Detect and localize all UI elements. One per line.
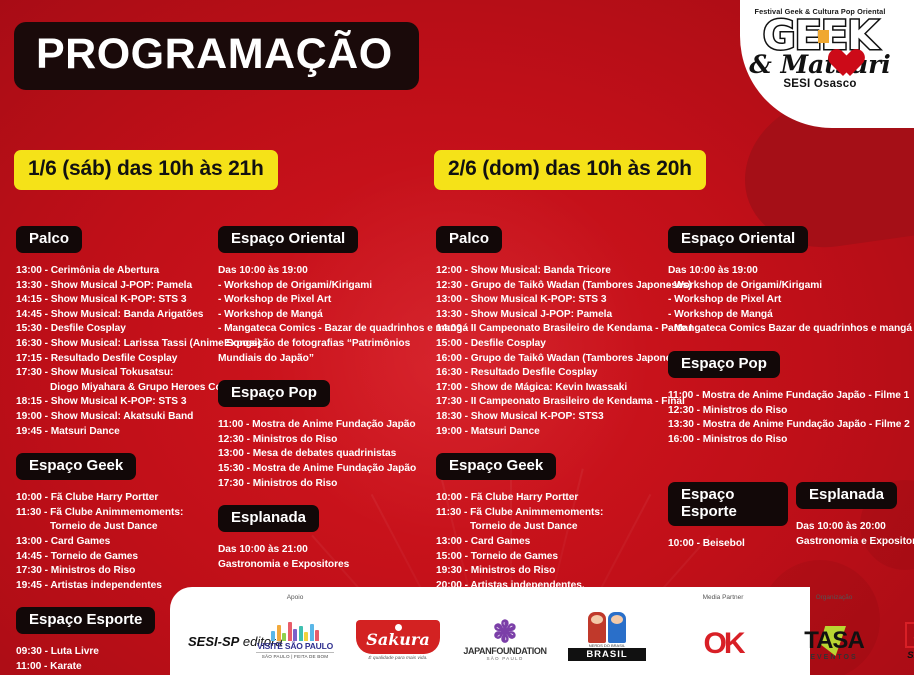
sponsor-ok: OK xyxy=(678,629,768,659)
sponsor-caption-apoio: Apoio xyxy=(256,594,334,603)
schedule-item: - Workshop de Origami/Kirigami xyxy=(668,279,908,294)
schedule-item: 10:00 - Fã Clube Harry Portter xyxy=(436,491,666,506)
schedule-item: Das 10:00 às 20:00 xyxy=(796,520,914,535)
schedule-item: 13:30 - Show Musical J-POP: Pamela xyxy=(16,279,216,294)
schedule-item: 13:00 - Show Musical K-POP: STS 3 xyxy=(436,293,666,308)
schedule-item: - Mangateca Comics Bazar de quadrinhos e… xyxy=(668,322,908,337)
schedule-block-label: Espaço Esporte xyxy=(16,607,155,634)
festival-logo: Festival Geek & Cultura Pop Oriental GEE… xyxy=(732,4,908,120)
schedule-block-label: Esplanada xyxy=(218,505,319,532)
schedule-item: - Workshop de Mangá xyxy=(218,308,428,323)
schedule-item: 14:15 - Show Musical K-POP: STS 3 xyxy=(16,293,216,308)
schedule-block-label: Espaço Pop xyxy=(218,380,330,407)
schedule-item: 17:00 - Show de Mágica: Kevin Iwassaki xyxy=(436,381,666,396)
schedule-item: Das 10:00 às 19:00 xyxy=(218,264,428,279)
schedule-item: 13:00 - Mesa de debates quadrinistas xyxy=(218,447,428,462)
bottom-block-esporte: Espaço Esporte10:00 - Beisebol xyxy=(668,482,788,566)
schedule-item: 19:30 - Ministros do Riso xyxy=(436,564,666,579)
schedule-column-3: Palco12:00 - Show Musical: Banda Tricore… xyxy=(436,226,666,607)
sponsor-sakura-badge: Sakura xyxy=(356,620,440,654)
schedule-item: 14:45 - Show Musical: Banda Arigatões xyxy=(16,308,216,323)
schedule-block: Espaço OrientalDas 10:00 às 19:00- Works… xyxy=(218,226,428,366)
schedule-item-list: 12:00 - Show Musical: Banda Tricore12:30… xyxy=(436,264,666,439)
schedule-item-list: Das 10:00 às 20:00Gastronomia e Exposito… xyxy=(796,520,914,549)
schedule-block: Espaço Pop11:00 - Mostra de Anime Fundaç… xyxy=(668,351,908,447)
sponsor-japan-foundation-title: JAPANFOUNDATION xyxy=(460,646,550,656)
sponsor-caption-media-partner: Media Partner xyxy=(678,594,768,603)
sponsor-sesi-box: SESI xyxy=(905,622,914,648)
schedule-block: Espaço OrientalDas 10:00 às 19:00- Works… xyxy=(668,226,908,337)
schedule-item-list: 13:00 - Cerimônia de Abertura13:30 - Sho… xyxy=(16,264,216,439)
sponsor-caption-apoio-label: Apoio xyxy=(256,594,334,601)
schedule-item: 13:00 - Card Games xyxy=(16,535,216,550)
schedule-block: Espaço Geek10:00 - Fã Clube Harry Portte… xyxy=(436,453,666,593)
schedule-block-label: Esplanada xyxy=(796,482,897,509)
schedule-item-list: Das 10:00 às 21:00Gastronomia e Exposito… xyxy=(218,543,428,572)
schedule-block: Palco12:00 - Show Musical: Banda Tricore… xyxy=(436,226,666,439)
sponsor-sakura-name: Sakura xyxy=(356,632,440,647)
schedule-item-list: 10:00 - Beisebol xyxy=(668,537,788,552)
schedule-block-label: Espaço Oriental xyxy=(218,226,358,253)
schedule-item: 14:45 - Torneio de Games xyxy=(16,550,216,565)
schedule-item: 10:00 - Fã Clube Harry Portter xyxy=(16,491,216,506)
sponsor-tasa-eventos: TASA EVENTOS xyxy=(786,626,882,661)
schedule-block: EsplanadaDas 10:00 às 21:00Gastronomia e… xyxy=(218,505,428,572)
schedule-item-list: Das 10:00 às 19:00- Workshop de Origami/… xyxy=(218,264,428,366)
schedule-item: - Workshop de Pixel Art xyxy=(218,293,428,308)
logo-venue-text: SESI Osasco xyxy=(732,78,908,90)
schedule-column-2: Espaço OrientalDas 10:00 às 19:00- Works… xyxy=(218,226,428,586)
schedule-item: 15:30 - Mostra de Anime Fundação Japão xyxy=(218,462,428,477)
schedule-item: 17:30 - Ministros do Riso xyxy=(218,477,428,492)
sponsor-caption-realizacao: Realização xyxy=(890,594,914,603)
schedule-item: 12:30 - Ministros do Riso xyxy=(218,433,428,448)
schedule-item: 19:45 - Matsuri Dance xyxy=(16,425,216,440)
schedule-item: - Workshop de Pixel Art xyxy=(668,293,908,308)
schedule-item-list: Das 10:00 às 19:00- Workshop de Origami/… xyxy=(668,264,908,337)
sponsor-sesi-sub: SÃO PAULO xyxy=(890,650,914,661)
schedule-item: 13:30 - Mostra de Anime Fundação Japão -… xyxy=(668,418,908,433)
schedule-item: 19:00 - Show Musical: Akatsuki Band xyxy=(16,410,216,425)
page-title: PROGRAMAÇÃO xyxy=(14,22,419,90)
schedule-block: Espaço Geek10:00 - Fã Clube Harry Portte… xyxy=(16,453,216,593)
schedule-item: - Exposição de fotografias “Patrimônios … xyxy=(218,337,428,366)
schedule-block-label: Espaço Pop xyxy=(668,351,780,378)
schedule-item: Das 10:00 às 21:00 xyxy=(218,543,428,558)
butterfly-icon: ❃ xyxy=(460,620,550,646)
schedule-block: EsplanadaDas 10:00 às 20:00Gastronomia e… xyxy=(796,482,914,549)
schedule-item: Das 10:00 às 19:00 xyxy=(668,264,908,279)
schedule-block-label: Espaço Geek xyxy=(16,453,136,480)
page-title-text: PROGRAMAÇÃO xyxy=(36,32,393,76)
schedule-item-list: 11:00 - Mostra de Anime Fundação Japão12… xyxy=(218,418,428,491)
schedule-item-list: 10:00 - Fã Clube Harry Portter11:30 - Fã… xyxy=(436,491,666,593)
schedule-item: 15:00 - Desfile Cosplay xyxy=(436,337,666,352)
poster-canvas: Festival Geek & Cultura Pop Oriental GEE… xyxy=(0,0,914,675)
sponsor-visite-sao-paulo-title: VISITE SÃO PAULO xyxy=(256,641,334,651)
sponsor-japan-foundation: ❃ JAPANFOUNDATION SÃO PAULO xyxy=(460,620,550,661)
schedule-item: 19:00 - Matsuri Dance xyxy=(436,425,666,440)
schedule-item: 17:30 - Ministros do Riso xyxy=(16,564,216,579)
schedule-item: 12:30 - Ministros do Riso xyxy=(668,404,908,419)
schedule-block: Espaço Esporte10:00 - Beisebol xyxy=(668,482,788,552)
day-header-saturday: 1/6 (sáb) das 10h às 21h xyxy=(14,150,278,190)
schedule-block-label: Palco xyxy=(16,226,82,253)
sponsor-sesisp-editora-bold: SESI-SP xyxy=(188,634,239,649)
sponsor-caption-organizacao-label: Organização xyxy=(786,594,882,601)
schedule-item: Torneio de Just Dance xyxy=(16,520,216,535)
day-header-sunday-label: 2/6 (dom) das 10h às 20h xyxy=(448,157,692,180)
schedule-item: 11:30 - Fã Clube Animmemoments: xyxy=(436,506,666,521)
schedule-block-label: Palco xyxy=(436,226,502,253)
schedule-item: 16:30 - Resultado Desfile Cosplay xyxy=(436,366,666,381)
schedule-block-label: Espaço Esporte xyxy=(668,482,788,526)
sponsor-ok-mark: OK xyxy=(678,629,768,659)
sponsor-sesi-sao-paulo: SESI SÃO PAULO xyxy=(890,622,914,661)
schedule-item: 15:00 - Torneio de Games xyxy=(436,550,666,565)
schedule-item: 15:30 - Desfile Cosplay xyxy=(16,322,216,337)
schedule-item: 11:30 - Fã Clube Animmemoments: xyxy=(16,506,216,521)
sponsor-sakura: Sakura É qualidade para mais vida. xyxy=(356,620,440,661)
schedule-item: Torneio de Just Dance xyxy=(436,520,666,535)
sponsor-nerds-do-brasil: NERDS DO BRASIL BRASIL xyxy=(568,609,646,661)
schedule-item: 13:30 - Show Musical J-POP: Pamela xyxy=(436,308,666,323)
sponsor-visite-sao-paulo: VISITE SÃO PAULO SÃO PAULO | FEITA DE BO… xyxy=(256,619,334,659)
schedule-item: 17:15 - Resultado Desfile Cosplay xyxy=(16,352,216,367)
schedule-item: 18:15 - Show Musical K-POP: STS 3 xyxy=(16,395,216,410)
nerd-characters-icon xyxy=(568,609,646,643)
sponsor-sakura-sub: É qualidade para mais vida. xyxy=(356,656,440,661)
schedule-item: 12:00 - Show Musical: Banda Tricore xyxy=(436,264,666,279)
day-header-sunday: 2/6 (dom) das 10h às 20h xyxy=(434,150,706,190)
schedule-item: 12:30 - Grupo de Taikô Wadan (Tambores J… xyxy=(436,279,666,294)
sponsor-nerds-do-brasil-name: BRASIL xyxy=(568,648,646,661)
day-header-saturday-label: 1/6 (sáb) das 10h às 21h xyxy=(28,157,264,180)
bottom-block-esplanada: EsplanadaDas 10:00 às 20:00Gastronomia e… xyxy=(796,482,914,563)
schedule-item: Diogo Miyahara & Grupo Heroes Cosplay xyxy=(16,381,216,396)
sponsor-tasa-row: TASA xyxy=(786,626,882,656)
schedule-item: 14:00 - II Campeonato Brasileiro de Kend… xyxy=(436,322,666,337)
schedule-item: Gastronomia e Expositores xyxy=(218,558,428,573)
schedule-item: - Mangateca Comics - Bazar de quadrinhos… xyxy=(218,322,428,337)
schedule-item: 17:30 - Show Musical Tokusatsu: xyxy=(16,366,216,381)
schedule-item: - Workshop de Origami/Kirigami xyxy=(218,279,428,294)
city-skyline-icon xyxy=(256,619,334,641)
schedule-item: 16:00 - Grupo de Taikô Wadan (Tambores J… xyxy=(436,352,666,367)
schedule-item: Gastronomia e Expositores xyxy=(796,535,914,550)
sponsor-footer-bar: SESI-SP editora Apoio VISITE SÃO PAULO S… xyxy=(170,587,810,675)
sponsor-caption-realizacao-label: Realização xyxy=(890,594,914,601)
schedule-item: 13:00 - Cerimônia de Abertura xyxy=(16,264,216,279)
schedule-item: - Workshop de Mangá xyxy=(668,308,908,323)
schedule-item: 11:00 - Mostra de Anime Fundação Japão xyxy=(218,418,428,433)
schedule-item-list: 10:00 - Fã Clube Harry Portter11:30 - Fã… xyxy=(16,491,216,593)
schedule-block-label: Espaço Geek xyxy=(436,453,556,480)
schedule-block: Palco13:00 - Cerimônia de Abertura13:30 … xyxy=(16,226,216,439)
pixel-heart-icon xyxy=(821,34,855,66)
sponsor-caption-organizacao: Organização xyxy=(786,594,882,603)
sponsor-japan-foundation-sub: SÃO PAULO xyxy=(460,656,550,661)
schedule-item: 18:30 - Show Musical K-POP: STS3 xyxy=(436,410,666,425)
schedule-item: 16:30 - Show Musical: Larissa Tassi (Ani… xyxy=(16,337,216,352)
sponsor-tasa-name: TASA xyxy=(804,627,864,654)
schedule-item: 10:00 - Beisebol xyxy=(668,537,788,552)
sponsor-caption-media-partner-label: Media Partner xyxy=(678,594,768,601)
schedule-item: 11:00 - Mostra de Anime Fundação Japão -… xyxy=(668,389,908,404)
schedule-item: 16:00 - Ministros do Riso xyxy=(668,433,908,448)
schedule-item-list: 11:00 - Mostra de Anime Fundação Japão -… xyxy=(668,389,908,447)
schedule-block: Espaço Pop11:00 - Mostra de Anime Fundaç… xyxy=(218,380,428,491)
schedule-block-label: Espaço Oriental xyxy=(668,226,808,253)
sponsor-visite-sao-paulo-sub: SÃO PAULO | FEITA DE BOM xyxy=(256,652,334,659)
schedule-item: 17:30 - II Campeonato Brasileiro de Kend… xyxy=(436,395,666,410)
schedule-column-4: Espaço OrientalDas 10:00 às 19:00- Works… xyxy=(668,226,908,461)
schedule-item: 13:00 - Card Games xyxy=(436,535,666,550)
